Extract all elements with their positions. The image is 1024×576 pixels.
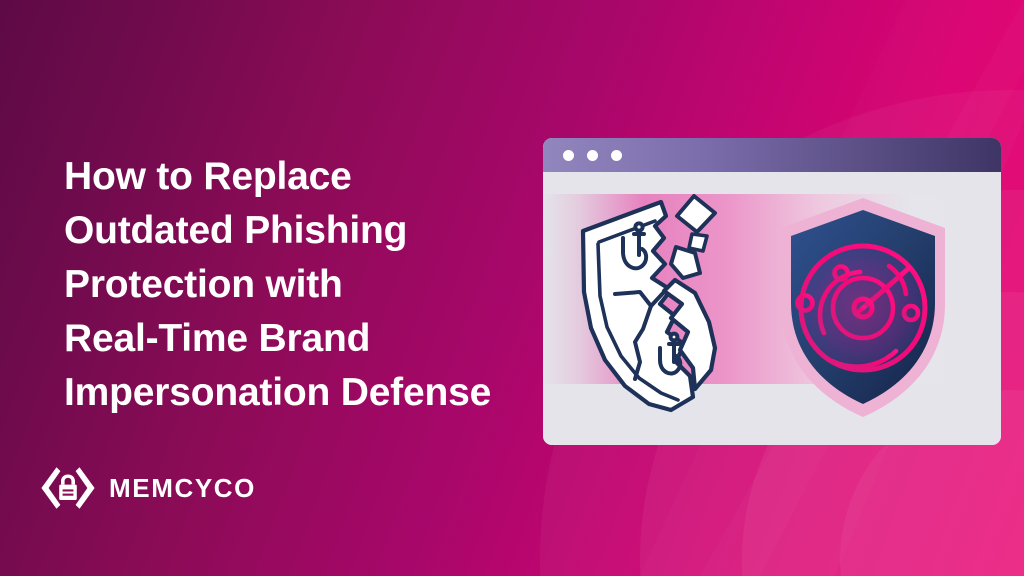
memcyco-logo[interactable]: MEMCYCO — [40, 464, 256, 512]
window-dot-1 — [563, 150, 574, 161]
browser-window-mockup — [543, 138, 1001, 445]
shield-illustrations — [543, 172, 1001, 445]
browser-body — [543, 172, 1001, 445]
browser-titlebar — [543, 138, 1001, 172]
banner-headline: How to Replace Outdated Phishing Protect… — [64, 150, 534, 420]
banner-root: How to Replace Outdated Phishing Protect… — [0, 0, 1024, 576]
radar-shield-graphic — [781, 198, 945, 417]
window-dot-3 — [611, 150, 622, 161]
window-dot-2 — [587, 150, 598, 161]
broken-shield-graphic — [583, 196, 715, 410]
radar-dial — [798, 246, 926, 370]
memcyco-wordmark: MEMCYCO — [109, 475, 256, 501]
lock-in-chevrons-icon — [40, 464, 96, 512]
